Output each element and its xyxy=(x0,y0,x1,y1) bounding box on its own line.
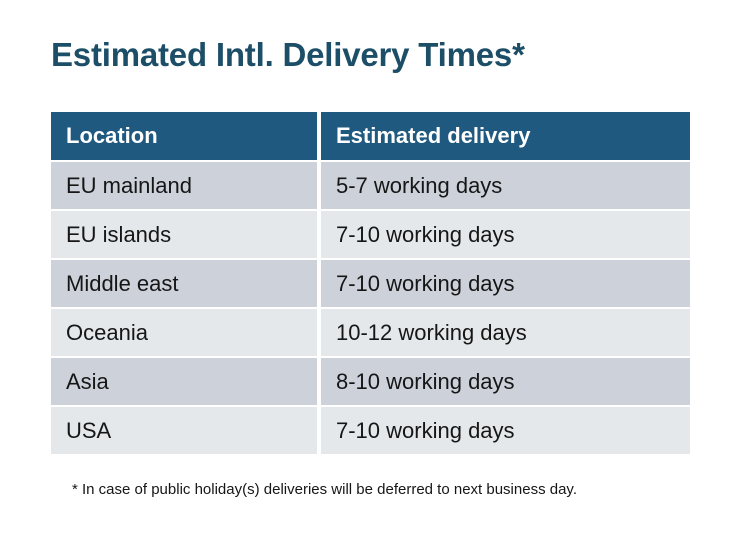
footnote-text: * In case of public holiday(s) deliverie… xyxy=(72,481,577,498)
cell-location: EU islands xyxy=(51,211,317,258)
cell-estimated-delivery: 7-10 working days xyxy=(321,407,690,454)
cell-location: EU mainland xyxy=(51,162,317,209)
column-header-estimated-delivery: Estimated delivery xyxy=(321,112,690,160)
table-header-row: Location Estimated delivery xyxy=(51,112,690,160)
column-header-location: Location xyxy=(51,112,317,160)
cell-location: Oceania xyxy=(51,309,317,356)
table-row: Asia 8-10 working days xyxy=(51,358,690,405)
table-row: USA 7-10 working days xyxy=(51,407,690,454)
delivery-times-page: Estimated Intl. Delivery Times* Location… xyxy=(0,0,745,536)
cell-estimated-delivery: 5-7 working days xyxy=(321,162,690,209)
table-row: Middle east 7-10 working days xyxy=(51,260,690,307)
cell-location: Asia xyxy=(51,358,317,405)
cell-location: USA xyxy=(51,407,317,454)
cell-estimated-delivery: 10-12 working days xyxy=(321,309,690,356)
table-row: EU islands 7-10 working days xyxy=(51,211,690,258)
table-row: Oceania 10-12 working days xyxy=(51,309,690,356)
cell-estimated-delivery: 7-10 working days xyxy=(321,211,690,258)
table-row: EU mainland 5-7 working days xyxy=(51,162,690,209)
cell-location: Middle east xyxy=(51,260,317,307)
cell-estimated-delivery: 7-10 working days xyxy=(321,260,690,307)
page-title: Estimated Intl. Delivery Times* xyxy=(51,36,525,74)
delivery-times-table: Location Estimated delivery EU mainland … xyxy=(51,112,690,454)
cell-estimated-delivery: 8-10 working days xyxy=(321,358,690,405)
